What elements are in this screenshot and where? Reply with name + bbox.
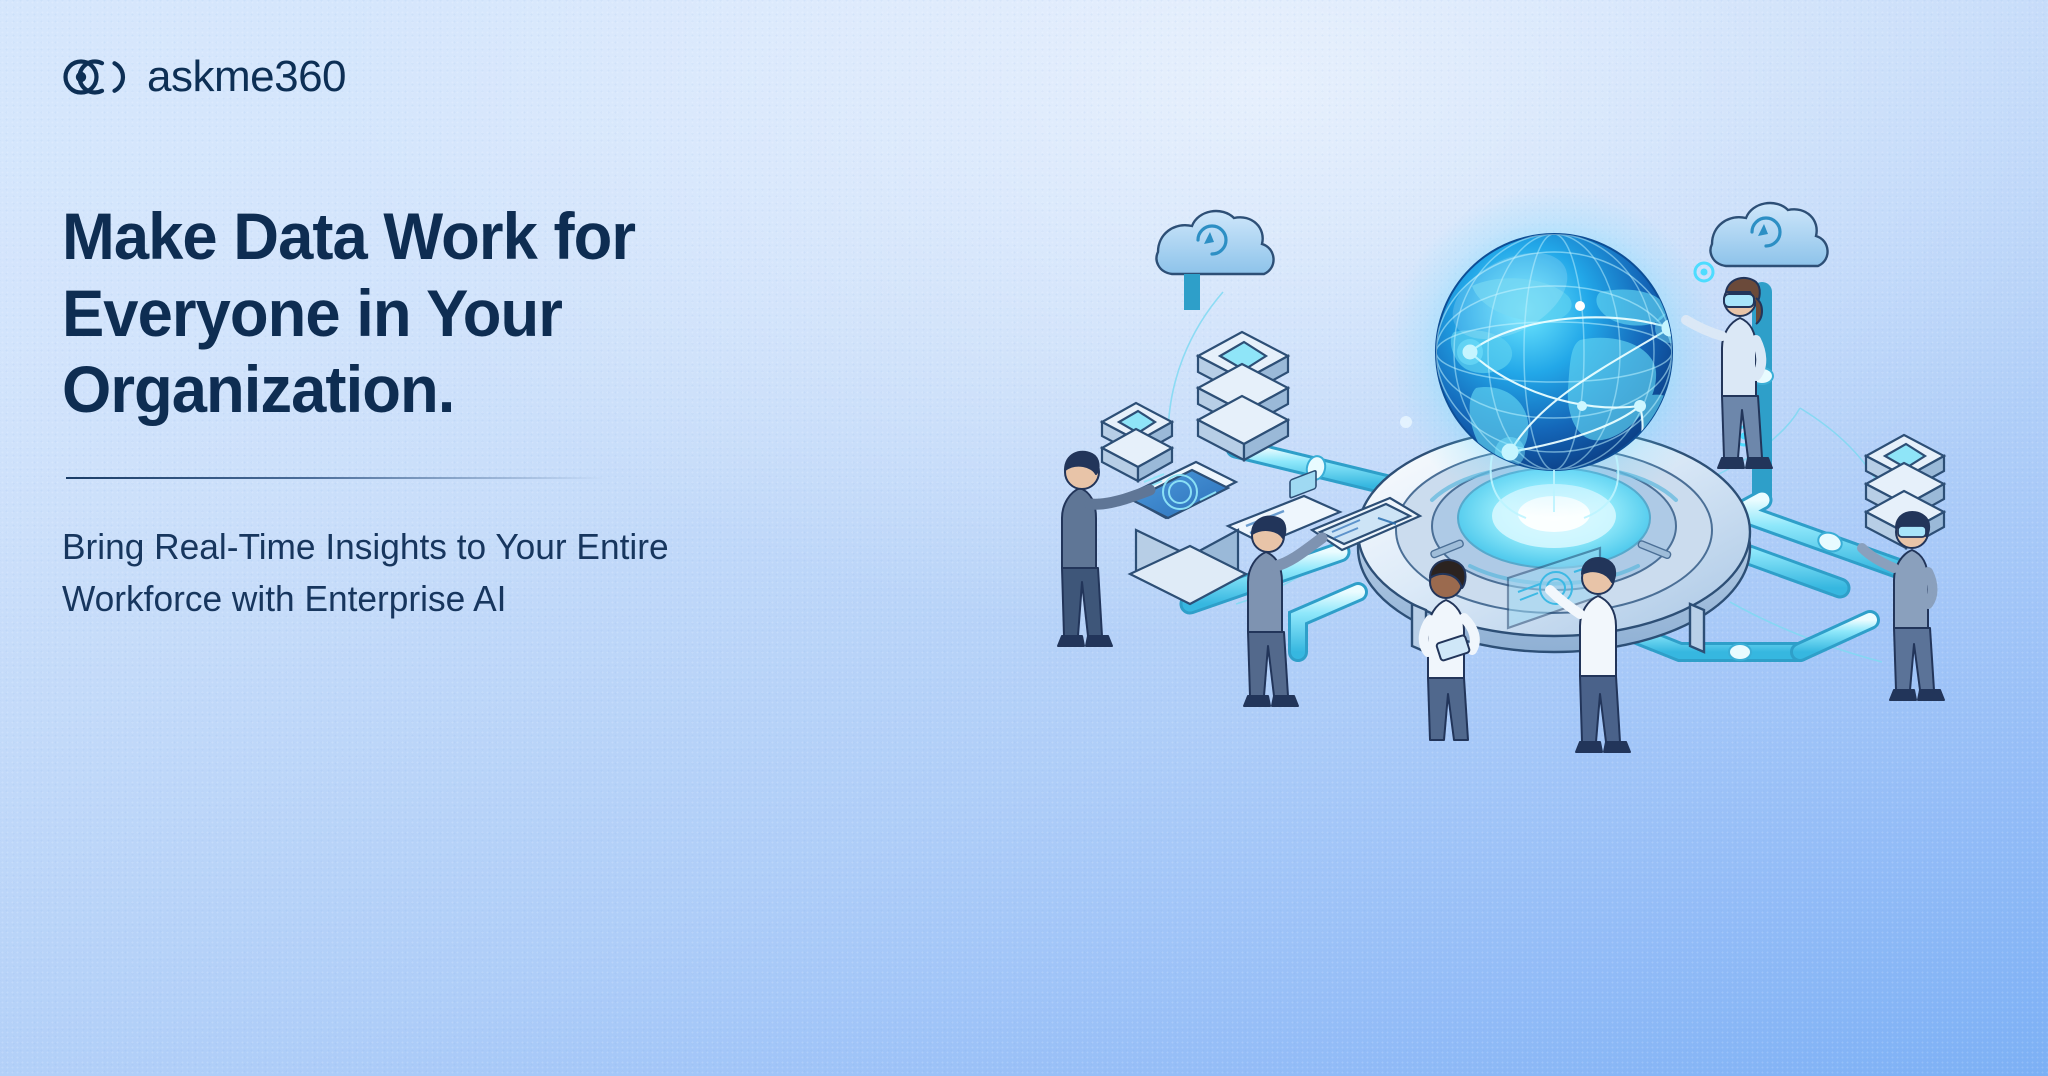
- server-stack-left: [1198, 332, 1288, 460]
- hero-illustration: [1040, 200, 2048, 740]
- page-title: Make Data Work for Everyone in Your Orga…: [62, 198, 830, 428]
- askme-circles-logo-icon: [62, 57, 130, 97]
- headline-line-1: Make Data Work for: [62, 199, 635, 273]
- hero-copy-block: Make Data Work for Everyone in Your Orga…: [62, 198, 862, 625]
- headline-line-3: Organization.: [62, 352, 454, 426]
- brand-logo[interactable]: askme360: [62, 55, 346, 99]
- cloud-node-left: [1157, 211, 1274, 310]
- cloud-node-right: [1711, 203, 1828, 266]
- subheadline-line-1: Bring Real-Time Insights to Your Entire: [62, 526, 669, 567]
- server-stack-left-lower: [1102, 403, 1172, 481]
- subheadline-line-2: Workforce with Enterprise AI: [62, 578, 506, 619]
- hero-subtitle: Bring Real-Time Insights to Your Entire …: [62, 521, 777, 625]
- headline-divider: [66, 477, 606, 479]
- brand-name: askme360: [147, 55, 346, 99]
- headline-line-2: Everyone in Your: [62, 276, 562, 350]
- person-right-standing: [1862, 512, 1944, 700]
- hero-banner: askme360 Make Data Work for Everyone in …: [0, 0, 2048, 1076]
- person-kiosk-left: [1058, 452, 1246, 646]
